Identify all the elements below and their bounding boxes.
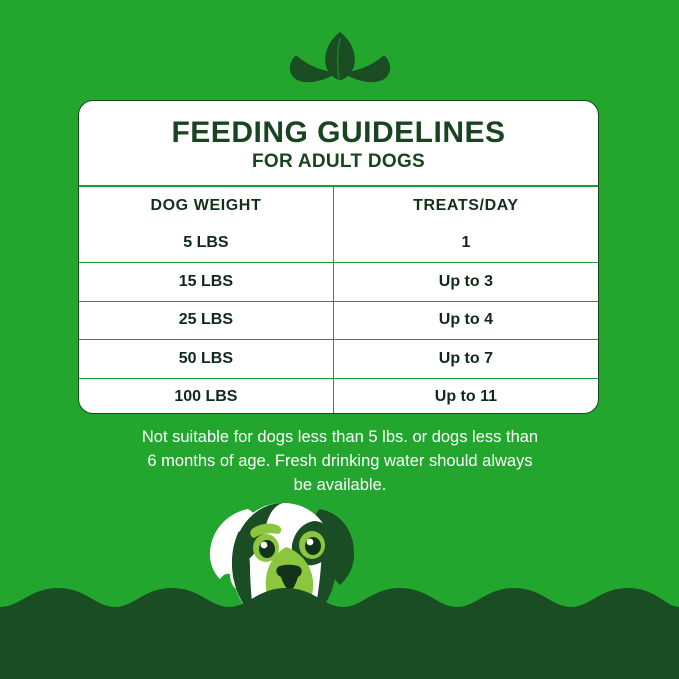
cell-treats-per-day: Up to 3 — [333, 263, 598, 302]
disclaimer-line-2: 6 months of age. Fresh drinking water sh… — [90, 450, 590, 474]
page-subtitle: FOR ADULT DOGS — [252, 151, 425, 173]
card-header: FEEDING GUIDELINES FOR ADULT DOGS — [79, 101, 598, 187]
cell-treats-per-day: Up to 7 — [333, 340, 598, 379]
scalloped-wave-divider — [0, 575, 679, 679]
table-row: 50 LBS Up to 7 — [79, 340, 598, 379]
table-row: 5 LBS 1 — [79, 225, 598, 263]
table-row: 25 LBS Up to 4 — [79, 301, 598, 340]
disclaimer-line-3: be available. — [90, 474, 590, 498]
feeding-guidelines-table: DOG WEIGHT TREATS/DAY 5 LBS 1 15 LBS Up … — [79, 187, 598, 414]
table-header-row: DOG WEIGHT TREATS/DAY — [79, 187, 598, 225]
cell-treats-per-day: Up to 4 — [333, 301, 598, 340]
cell-treats-per-day: 1 — [333, 225, 598, 263]
wave-svg — [0, 575, 679, 679]
cell-dog-weight: 5 LBS — [79, 225, 333, 263]
cell-dog-weight: 50 LBS — [79, 340, 333, 379]
page-title: FEEDING GUIDELINES — [171, 117, 505, 149]
feeding-guidelines-card: FEEDING GUIDELINES FOR ADULT DOGS DOG WE… — [78, 100, 599, 414]
sprout-leaves-icon — [0, 26, 679, 88]
cell-dog-weight: 25 LBS — [79, 301, 333, 340]
feeding-guidelines-panel: FEEDING GUIDELINES FOR ADULT DOGS DOG WE… — [0, 0, 679, 679]
column-header-treats-per-day: TREATS/DAY — [333, 187, 598, 225]
cell-dog-weight: 15 LBS — [79, 263, 333, 302]
cell-dog-weight: 100 LBS — [79, 378, 333, 414]
table-row: 15 LBS Up to 3 — [79, 263, 598, 302]
table-row: 100 LBS Up to 11 — [79, 378, 598, 414]
cell-treats-per-day: Up to 11 — [333, 378, 598, 414]
sprout-leaves-svg — [285, 28, 395, 86]
column-header-dog-weight: DOG WEIGHT — [79, 187, 333, 225]
disclaimer-line-1: Not suitable for dogs less than 5 lbs. o… — [90, 426, 590, 450]
disclaimer-text: Not suitable for dogs less than 5 lbs. o… — [90, 426, 590, 498]
